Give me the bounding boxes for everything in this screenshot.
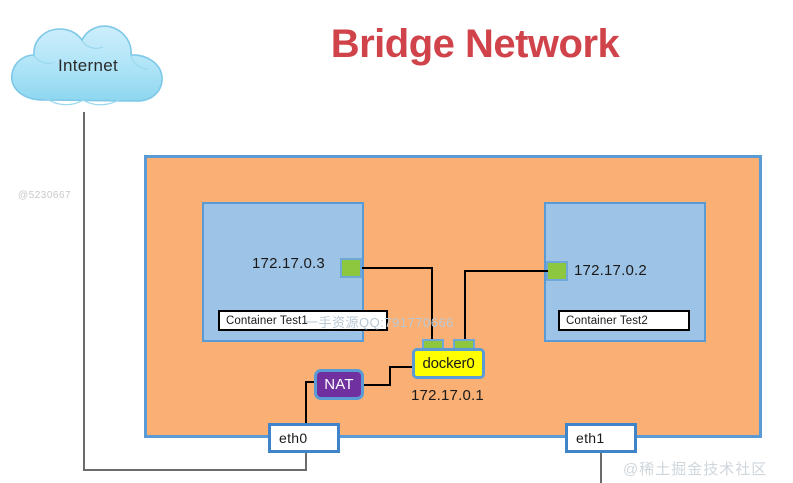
eth1-external-line bbox=[600, 451, 602, 483]
link-nat-to-bridge-top bbox=[389, 366, 414, 368]
eth0-interface: eth0 bbox=[268, 423, 340, 453]
container-test1-ip: 172.17.0.3 bbox=[252, 255, 325, 272]
container-test2-ip: 172.17.0.2 bbox=[574, 262, 647, 279]
link-nat-to-eth0-vertical bbox=[305, 381, 307, 425]
link-container1-to-bridge-horizontal bbox=[362, 267, 433, 269]
container-test1-port-icon bbox=[340, 258, 362, 278]
link-container2-to-bridge-vertical bbox=[464, 270, 466, 341]
link-container2-to-bridge-horizontal bbox=[464, 270, 548, 272]
link-nat-to-bridge-vertical bbox=[389, 366, 391, 386]
link-nat-to-bridge-horizontal bbox=[363, 384, 391, 386]
bridge-network-diagram: Bridge Network Internet 1 bbox=[0, 0, 793, 483]
container-test2-label: Container Test2 bbox=[558, 310, 690, 331]
docker0-ip: 172.17.0.1 bbox=[411, 387, 484, 404]
eth1-interface: eth1 bbox=[565, 423, 637, 453]
internet-label: Internet bbox=[6, 56, 170, 76]
internet-cloud: Internet bbox=[6, 22, 170, 114]
watermark-bottom: @稀土掘金技术社区 bbox=[623, 458, 767, 479]
link-container1-to-bridge-vertical bbox=[431, 267, 433, 341]
docker0-bridge: docker0 bbox=[412, 348, 485, 379]
page-title: Bridge Network bbox=[250, 22, 700, 66]
eth0-external-line bbox=[305, 451, 307, 471]
container-test1-label: Container Test1 bbox=[218, 310, 388, 331]
watermark-left: @5230667 bbox=[18, 190, 71, 201]
container-test2-port-icon bbox=[546, 261, 568, 281]
internet-bottom-rail-line bbox=[83, 469, 307, 471]
nat-node: NAT bbox=[314, 369, 364, 400]
internet-downlink-line bbox=[83, 112, 85, 470]
